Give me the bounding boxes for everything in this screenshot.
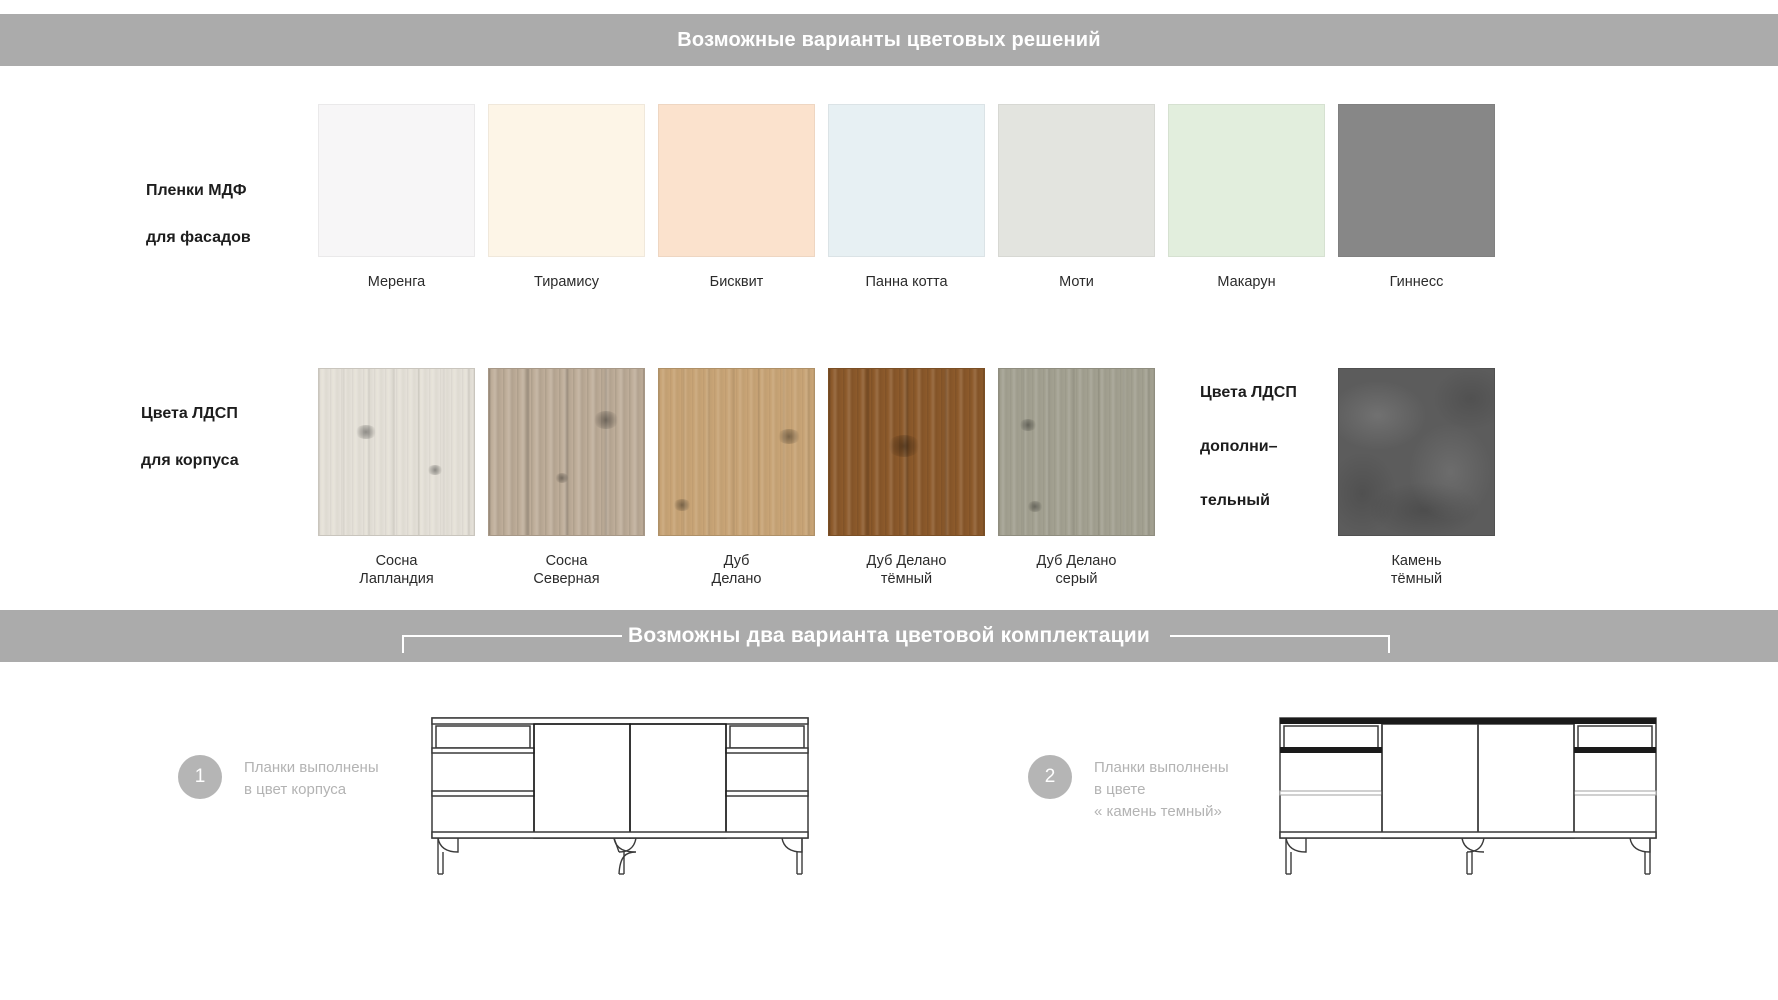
swatch-panna-kotta[interactable] bbox=[828, 104, 985, 257]
variant-2-text: Планки выполнены в цвете « камень темный… bbox=[1094, 755, 1229, 822]
swatch-label-tiramisu: Тирамису bbox=[534, 273, 599, 291]
ldsp-row-spacer bbox=[1168, 368, 1325, 588]
swatch-label-dub-delano-temnyi: Дуб Делано тёмный bbox=[867, 552, 947, 588]
swatch-cell-panna-kotta[interactable]: Панна котта bbox=[828, 104, 985, 291]
variant-1-badge: 1 bbox=[178, 755, 222, 799]
swatch-makarun[interactable] bbox=[1168, 104, 1325, 257]
swatch-cell-dub-delano[interactable]: Дуб Делано bbox=[658, 368, 815, 588]
swatch-cell-dub-delano-seryi[interactable]: Дуб Делано серый bbox=[998, 368, 1155, 588]
wood-knot-icon bbox=[1019, 419, 1037, 431]
swatch-cell-merenga[interactable]: Меренга bbox=[318, 104, 475, 291]
ldsp-label-line2: для корпуса bbox=[141, 453, 239, 469]
swatch-label-dub-delano-seryi: Дуб Делано серый bbox=[1037, 552, 1117, 588]
wood-knot-icon bbox=[887, 435, 921, 457]
swatch-cell-dub-delano-temnyi[interactable]: Дуб Делано тёмный bbox=[828, 368, 985, 588]
swatch-label-kamen-temnyi: Камень тёмный bbox=[1391, 552, 1442, 588]
swatch-label-sosna-severnaya: Сосна Северная bbox=[533, 552, 599, 588]
wood-knot-icon bbox=[777, 429, 801, 444]
swatch-ginness[interactable] bbox=[1338, 104, 1495, 257]
swatch-label-makarun: Макарун bbox=[1217, 273, 1275, 291]
wood-knot-icon bbox=[355, 425, 377, 439]
wood-knot-icon bbox=[593, 411, 619, 429]
wood-grain-texture bbox=[319, 369, 474, 535]
sideboard-drawing-variant-2 bbox=[1278, 700, 1658, 885]
swatch-dub-delano-seryi[interactable] bbox=[998, 368, 1155, 536]
middle-banner: Возможны два варианта цветовой комплекта… bbox=[0, 610, 1778, 662]
wood-knot-icon bbox=[673, 499, 691, 511]
stone-texture bbox=[1339, 369, 1494, 535]
mdf-label-line1: Пленки МДФ bbox=[146, 182, 246, 199]
swatch-label-merenga: Меренга bbox=[368, 273, 425, 291]
swatch-dub-delano-temnyi[interactable] bbox=[828, 368, 985, 536]
variant-2-badge: 2 bbox=[1028, 755, 1072, 799]
swatch-biskvit[interactable] bbox=[658, 104, 815, 257]
ldsp-section-label: Цвета ЛДСП для корпуса bbox=[141, 406, 239, 469]
ldsp-label-line1: Цвета ЛДСП bbox=[141, 405, 238, 422]
swatch-label-biskvit: Бисквит bbox=[710, 273, 764, 291]
swatch-cell-kamen-temnyi[interactable]: Камень тёмный bbox=[1338, 368, 1495, 588]
swatch-label-moti: Моти bbox=[1059, 273, 1094, 291]
swatch-label-dub-delano: Дуб Делано bbox=[712, 552, 762, 588]
sideboard-drawing-variant-1 bbox=[430, 700, 810, 885]
swatch-cell-tiramisu[interactable]: Тирамису bbox=[488, 104, 645, 291]
variant-1-text: Планки выполнены в цвет корпуса bbox=[244, 755, 379, 801]
swatch-label-ginness: Гиннесс bbox=[1390, 273, 1444, 291]
swatch-label-panna-kotta: Панна котта bbox=[865, 273, 947, 291]
swatch-cell-sosna-severnaya[interactable]: Сосна Северная bbox=[488, 368, 645, 588]
wood-knot-icon bbox=[427, 465, 443, 475]
wood-grain-texture bbox=[489, 369, 644, 535]
swatch-label-sosna-laplandiya: Сосна Лапландия bbox=[359, 552, 433, 588]
color-options-page: Возможные варианты цветовых решений Плен… bbox=[0, 0, 1778, 1000]
mdf-swatch-row: Меренга Тирамису Бисквит Панна котта Мот… bbox=[318, 104, 1495, 291]
swatch-cell-sosna-laplandiya[interactable]: Сосна Лапландия bbox=[318, 368, 475, 588]
swatch-tiramisu[interactable] bbox=[488, 104, 645, 257]
variant-2[interactable]: 2 Планки выполнены в цвете « камень темн… bbox=[1028, 755, 1229, 822]
top-banner-title: Возможные варианты цветовых решений bbox=[677, 29, 1100, 52]
swatch-sosna-severnaya[interactable] bbox=[488, 368, 645, 536]
swatch-sosna-laplandiya[interactable] bbox=[318, 368, 475, 536]
swatch-moti[interactable] bbox=[998, 104, 1155, 257]
swatch-kamen-temnyi[interactable] bbox=[1338, 368, 1495, 536]
wood-knot-icon bbox=[1027, 501, 1043, 512]
wood-knot-icon bbox=[555, 473, 569, 483]
swatch-cell-ginness[interactable]: Гиннесс bbox=[1338, 104, 1495, 291]
ldsp-swatch-row: Сосна Лапландия Сосна Северная Дуб Делан… bbox=[318, 368, 1495, 588]
sideboard-svg-2 bbox=[1278, 700, 1658, 880]
swatch-cell-makarun[interactable]: Макарун bbox=[1168, 104, 1325, 291]
middle-banner-title: Возможны два варианта цветовой комплекта… bbox=[610, 624, 1168, 648]
top-banner: Возможные варианты цветовых решений bbox=[0, 14, 1778, 66]
wood-grain-texture bbox=[999, 369, 1154, 535]
variant-1[interactable]: 1 Планки выполнены в цвет корпуса bbox=[178, 755, 379, 801]
mdf-label-line2: для фасадов bbox=[146, 230, 251, 246]
mdf-section-label: Пленки МДФ для фасадов bbox=[146, 183, 251, 246]
sideboard-svg-1 bbox=[430, 700, 810, 880]
swatch-merenga[interactable] bbox=[318, 104, 475, 257]
swatch-cell-moti[interactable]: Моти bbox=[998, 104, 1155, 291]
swatch-cell-biskvit[interactable]: Бисквит bbox=[658, 104, 815, 291]
swatch-dub-delano[interactable] bbox=[658, 368, 815, 536]
